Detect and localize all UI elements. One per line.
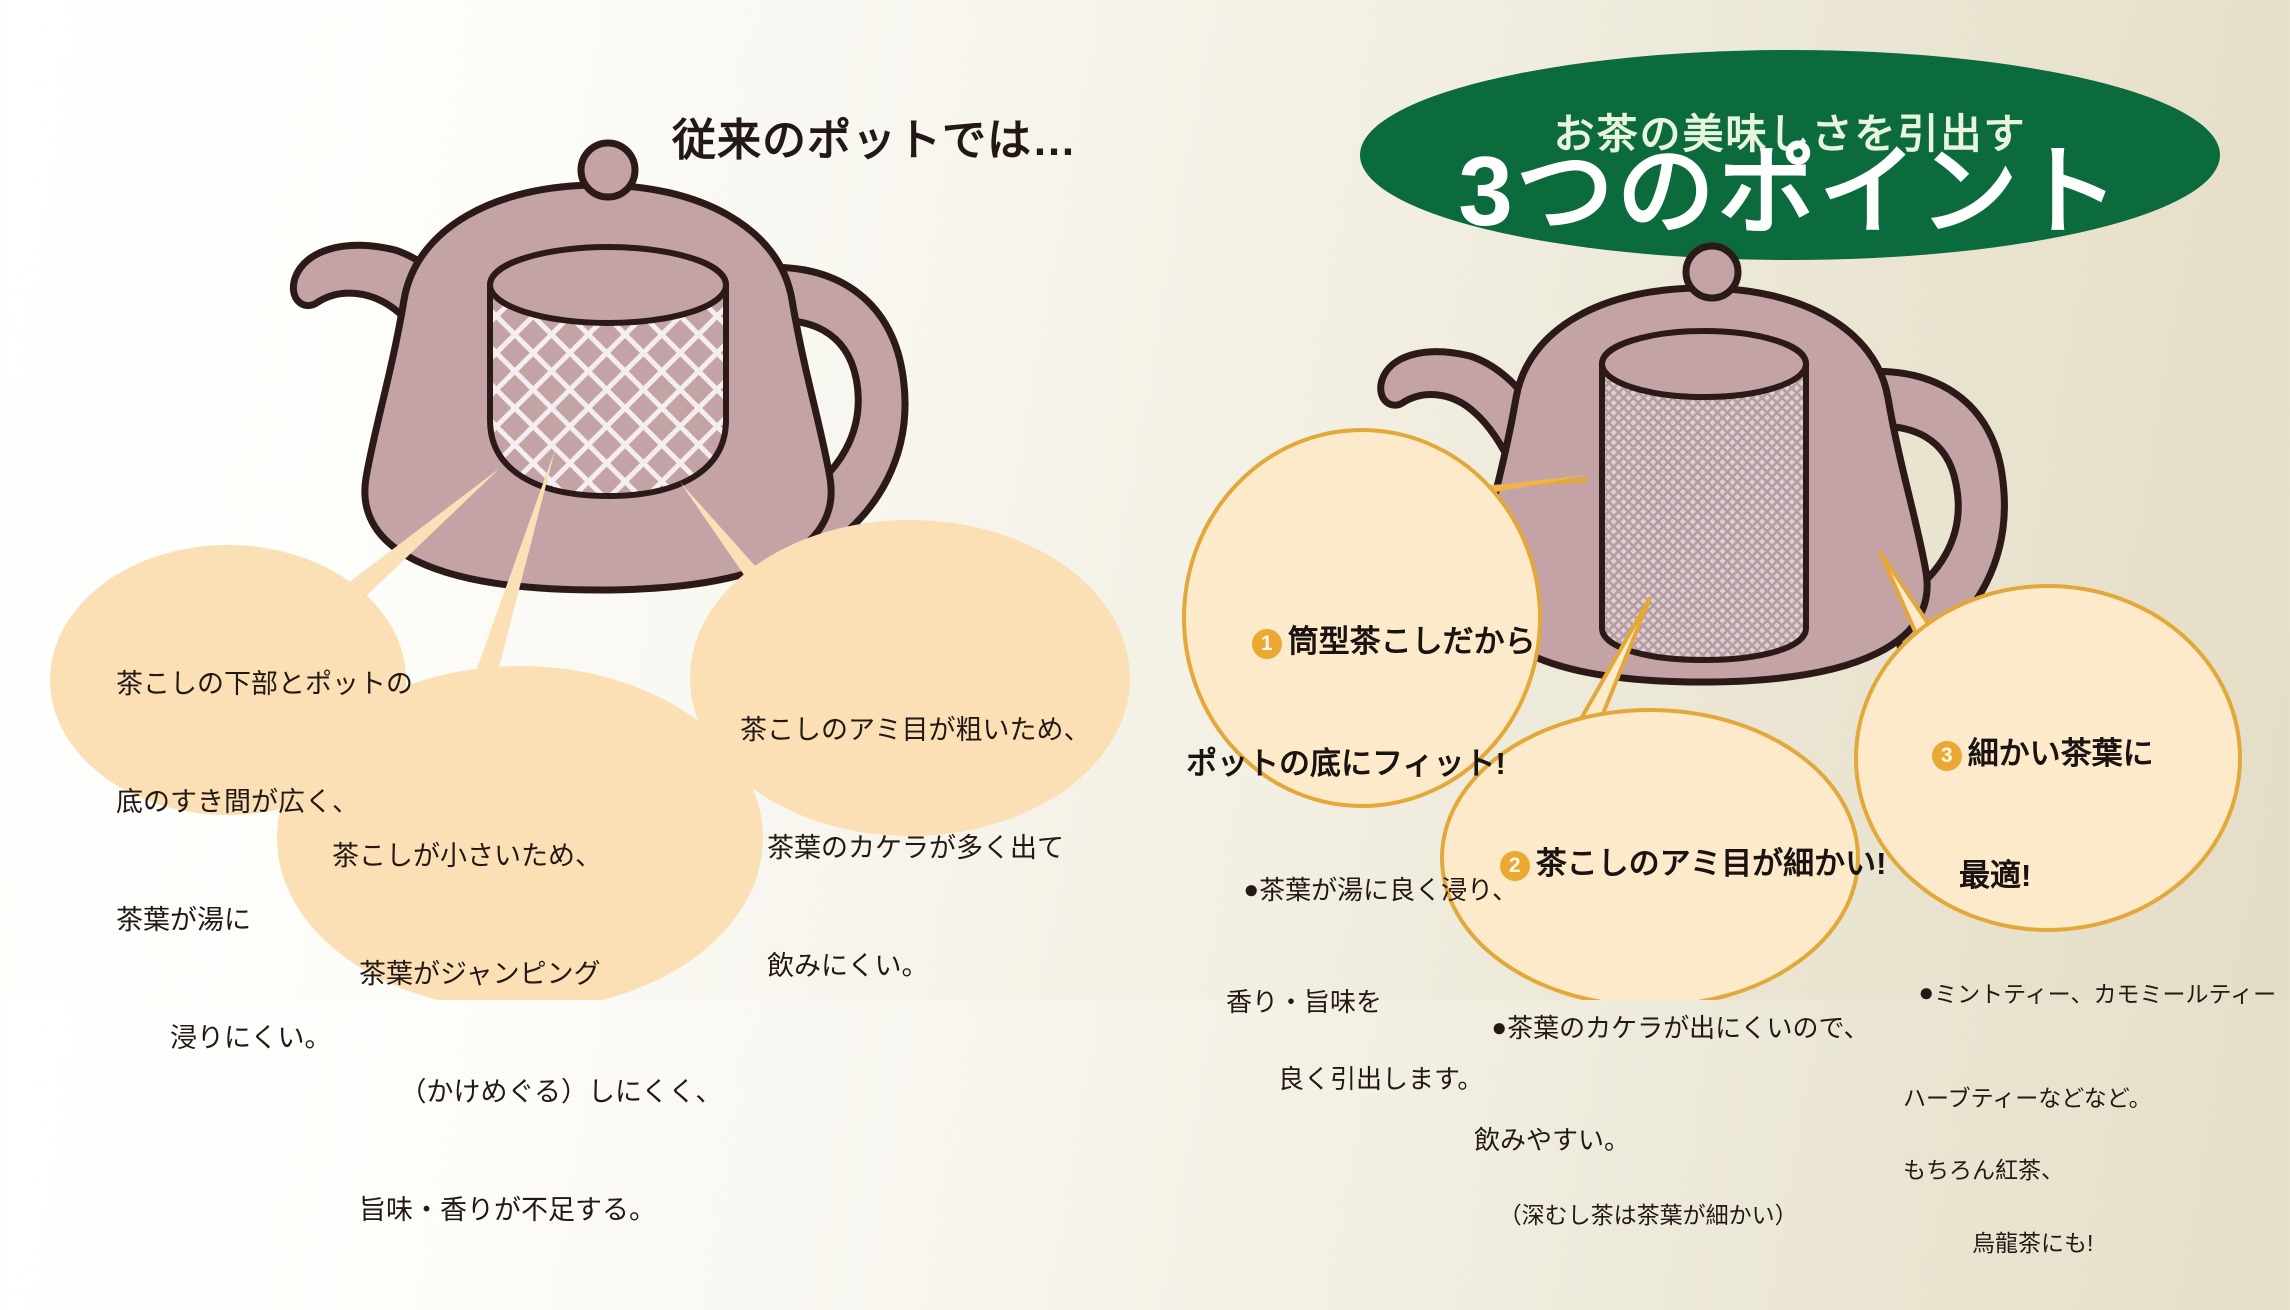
left-callout-1-line-1: 茶こしの下部とポットの [116,665,413,704]
point-1-title-line-1: 1筒型茶こしだから [1200,582,1530,703]
teapot-knob-left [581,143,635,197]
point-3-block: 3細かい茶葉に 最適! ●ミントティー、カモミールティー ハーブティーなどなど。… [1880,652,2240,1301]
point-3-title-text-1: 細かい茶葉に [1968,736,2154,771]
point-3-body-line-1: ●ミントティー、カモミールティー [1880,948,2240,1041]
point-2-body-text-1: 茶葉のカケラが出にくいので、 [1507,1013,1869,1043]
point-1-number-badge: 1 [1252,629,1282,659]
left-callout-2-line-1: 茶こしが小さいため、 [332,837,722,876]
teapot-strainer-rim-right [1602,331,1806,397]
point-2-number-badge: 2 [1500,851,1530,881]
conventional-teapot [293,143,905,590]
left-callout-2-text: 茶こしが小さいため、 茶葉がジャンピング （かけめぐる）しにくく、 旨味・香りが… [332,758,722,1310]
point-2-bullet-icon: ● [1491,1012,1507,1042]
point-2-title-text-1: 茶こしのアミ目が細かい! [1536,846,1887,881]
point-2-body-line-2: 飲みやすい。 [1448,1123,1868,1158]
left-callout-2-line-2: 茶葉がジャンピング [332,955,722,994]
point-3-body-line-3: もちろん紅茶、 [1880,1155,2240,1186]
point-3-title-line-2: 最適! [1866,856,2240,896]
oval-title: 3つのポイント [1360,142,2220,240]
point-3-body-line-4: 烏龍茶にも! [1880,1228,2240,1259]
point-3-title-line-1: 3細かい茶葉に [1880,694,2240,815]
left-callout-2-line-3: （かけめぐる）しにくく、 [332,1073,722,1112]
teapot-knob-right [1686,246,1738,298]
point-1-bullet-icon: ● [1243,874,1259,904]
point-2-title-line-1: 2茶こしのアミ目が細かい! [1448,804,1868,925]
point-3-number-badge: 3 [1932,741,1962,771]
point-2-body-line-1: ●茶葉のカケラが出にくいので、 [1448,976,1868,1081]
left-callout-3-line-2: 茶葉のカケラが多く出て [740,829,1090,868]
oval-title-wrap: 3つのポイント [1360,142,2220,240]
teapot-strainer-rim-left [490,247,726,323]
point-3-body-text-1: ミントティー、カモミールティー [1934,981,2276,1007]
left-callout-3-text: 茶こしのアミ目が粗いため、 茶葉のカケラが多く出て 飲みにくい。 [740,632,1090,1065]
point-2-block: 2茶こしのアミ目が細かい! ●茶葉のカケラが出にくいので、 飲みやすい。 （深む… [1448,762,1868,1272]
left-headline: 従来のポットでは… [672,112,1077,169]
left-callout-2-line-4: 旨味・香りが不足する。 [332,1191,722,1230]
point-3-bullet-icon: ● [1918,977,1934,1007]
point-1-title-text-1: 筒型茶こしだから [1288,624,1536,659]
left-callout-3-line-3: 飲みにくい。 [740,947,1090,986]
point-3-body-line-2: ハーブティーなどなど。 [1880,1083,2240,1114]
point-2-note-line-1: （深むし茶は茶葉が細かい） [1448,1200,1868,1231]
infographic-canvas: 従来のポットでは… お茶の美味しさを引出す 3つのポイント 茶こしの下部とポット… [0,0,2290,1000]
left-callout-3-line-1: 茶こしのアミ目が粗いため、 [740,711,1090,750]
